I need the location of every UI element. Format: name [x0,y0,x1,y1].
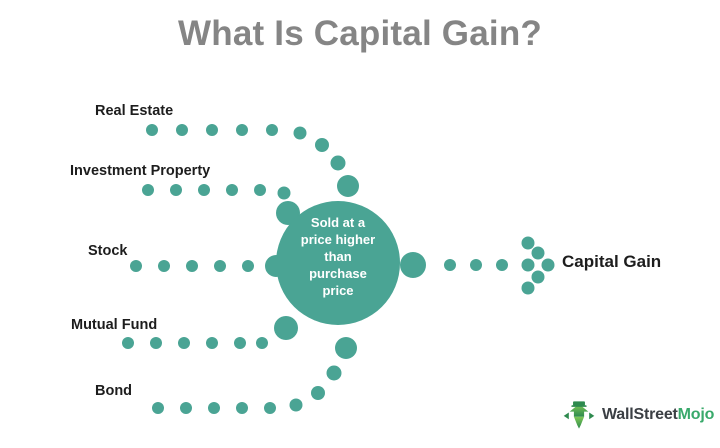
output-arrow [400,237,555,295]
label-bond: Bond [95,383,132,399]
branch-stock [130,255,287,277]
wallstreetmojo-logo[interactable]: WallStreetMojo [562,398,714,432]
diagram-canvas: What Is Capital Gain? [0,0,720,448]
label-investment-property: Investment Property [70,163,210,179]
logo-text-mojo: Mojo [678,406,715,423]
bull-emblem-icon [562,398,596,432]
logo-wordmark: WallStreetMojo [602,406,714,424]
label-capital-gain: Capital Gain [562,252,661,272]
label-stock: Stock [88,243,128,259]
center-circle [276,201,400,325]
label-mutual-fund: Mutual Fund [71,317,157,333]
logo-text-wallstreet: WallStreet [602,406,678,423]
branch-investment-property [142,184,300,225]
capital-gain-flow-diagram [0,0,720,448]
label-real-estate: Real Estate [95,103,173,119]
